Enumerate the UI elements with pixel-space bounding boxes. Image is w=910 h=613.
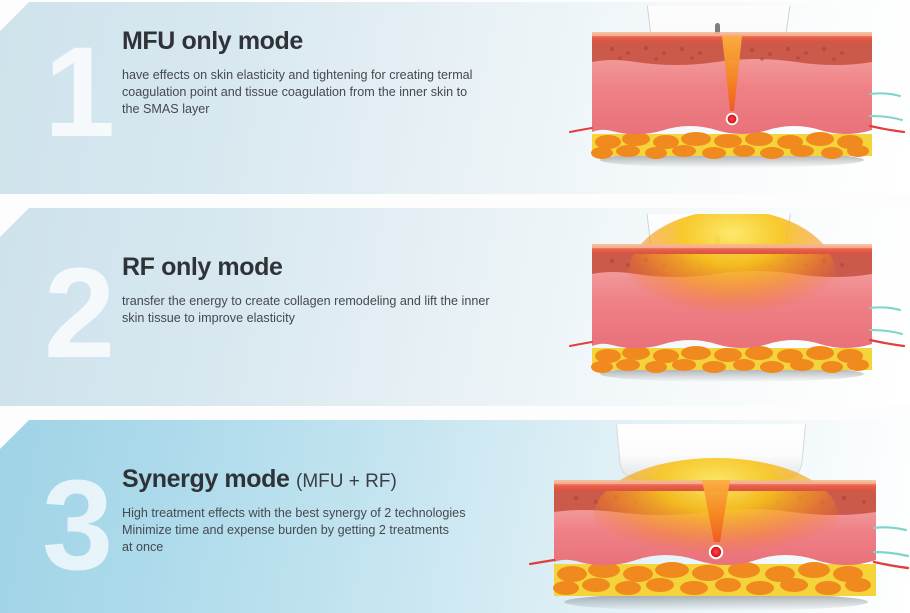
fat-layer — [591, 132, 872, 159]
panel-title-main-1: MFU only mode — [122, 27, 303, 55]
panel-title-2: RF only mode — [122, 253, 490, 282]
panel-text-1: MFU only mode have effects on skin elast… — [122, 27, 473, 118]
focal-point-icon — [728, 115, 737, 124]
panel-number-2: 2 — [44, 250, 113, 378]
rf-heat-glow — [628, 214, 836, 342]
panel-body-1: have effects on skin elasticity and tigh… — [122, 67, 473, 118]
panel-title-1: MFU only mode — [122, 27, 473, 56]
panel-title-main-2: RF only mode — [122, 253, 282, 281]
panel-number-1: 1 — [44, 29, 113, 157]
panel-body-2: transfer the energy to create collagen r… — [122, 293, 490, 327]
illustration-mfu-only — [556, 6, 908, 192]
panel-number-3: 3 — [42, 462, 111, 590]
panel-text-2: RF only mode transfer the energy to crea… — [122, 253, 490, 327]
panel-title-main-3: Synergy mode — [122, 465, 289, 493]
fat-layer — [591, 346, 872, 373]
panel-title-suffix-3: (MFU + RF) — [296, 471, 397, 492]
illustration-rf-only — [556, 214, 908, 406]
illustration-synergy — [520, 424, 910, 613]
panel-body-3: High treatment effects with the best syn… — [122, 505, 466, 556]
panel-text-3: Synergy mode (MFU + RF) High treatment e… — [122, 465, 466, 556]
focal-point-icon — [711, 547, 721, 557]
infographic-stage: 1 MFU only mode have effects on skin ela… — [0, 0, 910, 613]
panel-title-3: Synergy mode (MFU + RF) — [122, 465, 466, 494]
